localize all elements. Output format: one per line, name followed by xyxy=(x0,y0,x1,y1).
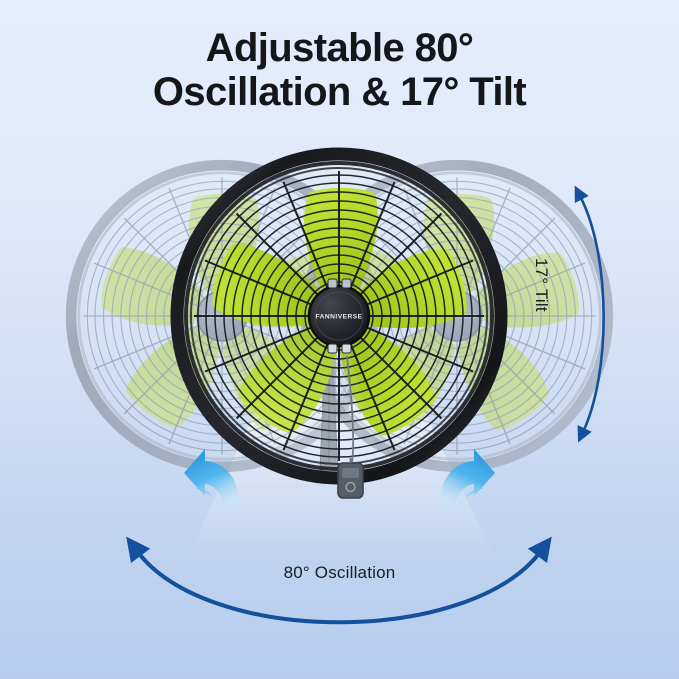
title-line-2: Oscillation & 17° Tilt xyxy=(0,70,679,114)
fan-main: FANNIVERSE xyxy=(177,154,501,478)
title-line-1: Adjustable 80° xyxy=(206,26,474,70)
brand-logo: FANNIVERSE xyxy=(315,314,362,321)
page-title: Adjustable 80° Oscillation & 17° Tilt xyxy=(0,26,679,114)
pull-chain-fob[interactable] xyxy=(338,458,363,498)
tilt-label: 17° Tilt xyxy=(531,258,551,312)
oscillation-arc-arrow xyxy=(137,551,541,622)
feature-graphic: Adjustable 80° Oscillation & 17° Tilt xyxy=(0,0,679,679)
oscillation-label: 80° Oscillation xyxy=(0,563,679,583)
